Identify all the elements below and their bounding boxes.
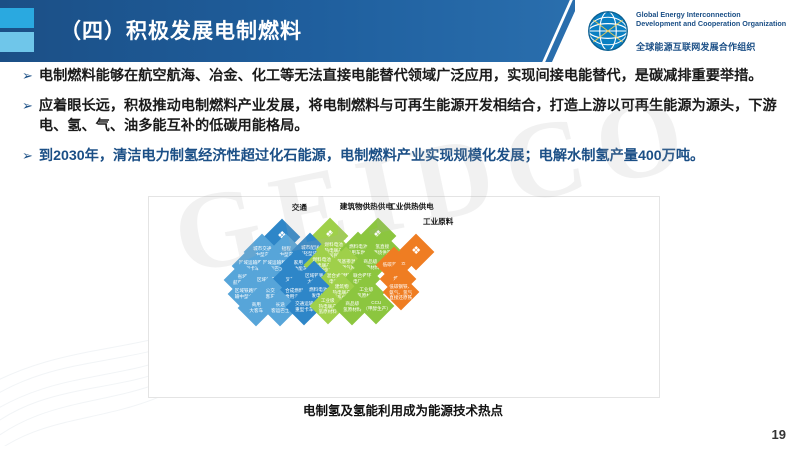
diagram-node-label: CCU （甲醇生产） [363,301,389,312]
slide: （四）积极发展电制燃料 Global Energy Interconnectio… [0,0,800,450]
bullet-item-1: ➢ 电制燃料能够在航空航海、冶金、化工等无法直接电能替代领域广泛应用，实现间接电… [22,66,782,87]
bullet-text-3: 到2030年，清洁电力制氢经济性超过化石能源，电制燃料产业实现规模化发展；电解水… [39,146,704,167]
group-label-industry-raw: 工业原料 [423,216,453,227]
globe-grid-logo-icon [586,9,630,53]
figure-caption: 电制氢及氢能利用成为能源技术热点 [148,400,658,419]
bullet-item-3: ➢ 到2030年，清洁电力制氢经济性超过化石能源，电制燃料产业实现规模化发展；电… [22,146,782,167]
bullet-item-2: ➢ 应着眼长远，积极推动电制燃料产业发展，将电制燃料与可再生能源开发相结合，打造… [22,96,782,137]
group-label-transport: 交通 [292,202,307,213]
diagram-node-label: 低碳钢铁、 氨气、氢气 直接还原铁 [388,284,414,301]
slide-header: （四）积极发展电制燃料 Global Energy Interconnectio… [0,0,800,62]
bottom-bar [0,446,800,450]
group-label-building-heat: 建筑物供热供电 [340,201,393,212]
org-en-line-2: Development and Cooperation Organization [636,19,786,28]
org-name-chinese: 全球能源互联网发展合作组织 [636,40,756,53]
org-en-line-1: Global Energy Interconnection [636,10,786,19]
diagram-figure: 交通建筑物供热供电工业供热供电工业原料❖❖❖❖城市交通 中型车短程 中型车城市配… [148,196,660,398]
header-accent-bar-top [0,8,34,28]
page-number: 19 [772,427,786,442]
bullet-marker-icon: ➢ [22,96,33,115]
header-accent-bar-bottom [0,32,34,52]
bullet-list: ➢ 电制燃料能够在航空航海、冶金、化工等无法直接电能替代领域广泛应用，实现间接电… [22,66,782,175]
bullet-marker-icon: ➢ [22,146,33,165]
bullet-marker-icon: ➢ [22,66,33,85]
bullet-text-1: 电制燃料能够在航空航海、冶金、化工等无法直接电能替代领域广泛应用，实现间接电能替… [39,66,763,87]
org-name-english: Global Energy Interconnection Developmen… [636,10,786,28]
bullet-text-2: 应着眼长远，积极推动电制燃料产业发展，将电制燃料与可再生能源开发相结合，打造上游… [39,96,782,137]
page-title: （四）积极发展电制燃料 [60,15,302,45]
group-label-industry-heat: 工业供热供电 [388,201,434,212]
